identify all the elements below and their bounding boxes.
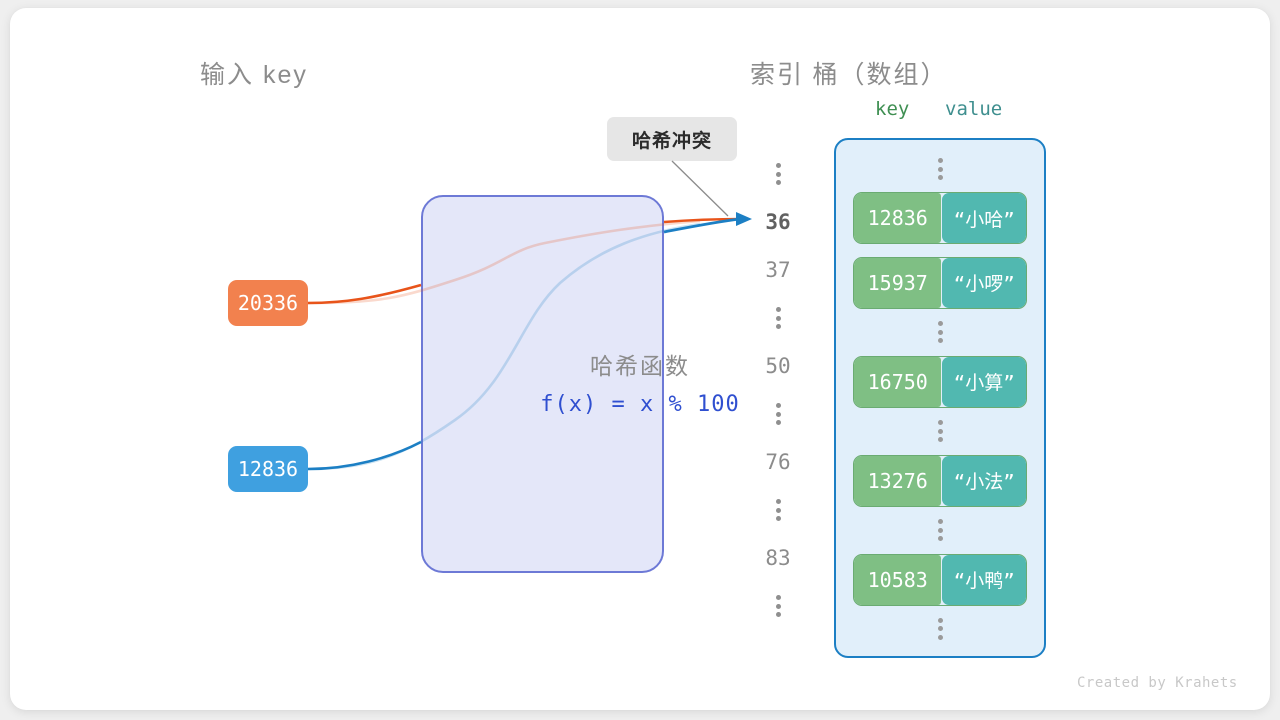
entry-value: “小啰” (942, 258, 1026, 308)
entry-value: “小鸭” (942, 555, 1026, 605)
index-column: 36 37 50 76 83 (752, 150, 804, 630)
entry-key: 16750 (854, 357, 941, 407)
bucket-array: 12836 “小哈” 15937 “小啰” 16750 “小算” 13276 “… (834, 138, 1046, 658)
ellipsis-dots-icon (776, 595, 781, 617)
entry-key: 13276 (854, 456, 941, 506)
entry-value: “小法” (942, 456, 1026, 506)
ellipsis-dots-icon (938, 420, 943, 442)
index-row-36[interactable]: 36 (752, 198, 804, 246)
ellipsis-dots-icon (776, 499, 781, 521)
diagram-canvas: 输入 key 索引 桶（数组） key value 哈希函数 f(x) = x … (0, 0, 1280, 720)
bucket-entry-row[interactable]: 15937 “小啰” (853, 257, 1027, 309)
bucket-entry-row[interactable]: 10583 “小鸭” (853, 554, 1027, 606)
entry-key: 12836 (854, 193, 941, 243)
input-key-chip-20336[interactable]: 20336 (228, 280, 308, 326)
entry-value: “小哈” (942, 193, 1026, 243)
hash-collision-badge: 哈希冲突 (607, 117, 737, 161)
entry-key: 15937 (854, 258, 941, 308)
index-row-37[interactable]: 37 (752, 246, 804, 294)
index-row-50[interactable]: 50 (752, 342, 804, 390)
column-title-bucket: 桶（数组） (812, 55, 947, 91)
input-key-chip-12836[interactable]: 12836 (228, 446, 308, 492)
column-title-index: 索引 (750, 55, 804, 91)
ellipsis-dots-icon (776, 163, 781, 185)
entry-key: 10583 (854, 555, 941, 605)
entry-value: “小算” (942, 357, 1026, 407)
hash-function-title: 哈希函数 (0, 347, 1280, 381)
bucket-key-label: key (875, 98, 909, 120)
hash-function-formula: f(x) = x % 100 (0, 392, 1280, 417)
index-value-83: 83 (765, 546, 790, 570)
index-row-dots (752, 582, 804, 630)
bucket-entry-row[interactable]: 16750 “小算” (853, 356, 1027, 408)
ellipsis-dots-icon (938, 519, 943, 541)
column-title-input-key: 输入 key (200, 55, 308, 91)
bucket-value-label: value (945, 98, 1002, 120)
index-row-76[interactable]: 76 (752, 438, 804, 486)
bucket-entry-row[interactable]: 13276 “小法” (853, 455, 1027, 507)
index-row-dots (752, 294, 804, 342)
index-value-36: 36 (765, 210, 790, 234)
index-value-50: 50 (765, 354, 790, 378)
ellipsis-dots-icon (938, 618, 943, 640)
index-value-37: 37 (765, 258, 790, 282)
ellipsis-dots-icon (776, 307, 781, 329)
hash-function-box (421, 195, 664, 573)
ellipsis-dots-icon (938, 158, 943, 180)
credit-text: Created by Krahets (1077, 675, 1238, 691)
index-value-76: 76 (765, 450, 790, 474)
index-row-dots (752, 150, 804, 198)
ellipsis-dots-icon (776, 403, 781, 425)
bucket-entry-row[interactable]: 12836 “小哈” (853, 192, 1027, 244)
index-row-dots (752, 486, 804, 534)
index-row-83[interactable]: 83 (752, 534, 804, 582)
index-row-dots (752, 390, 804, 438)
ellipsis-dots-icon (938, 321, 943, 343)
